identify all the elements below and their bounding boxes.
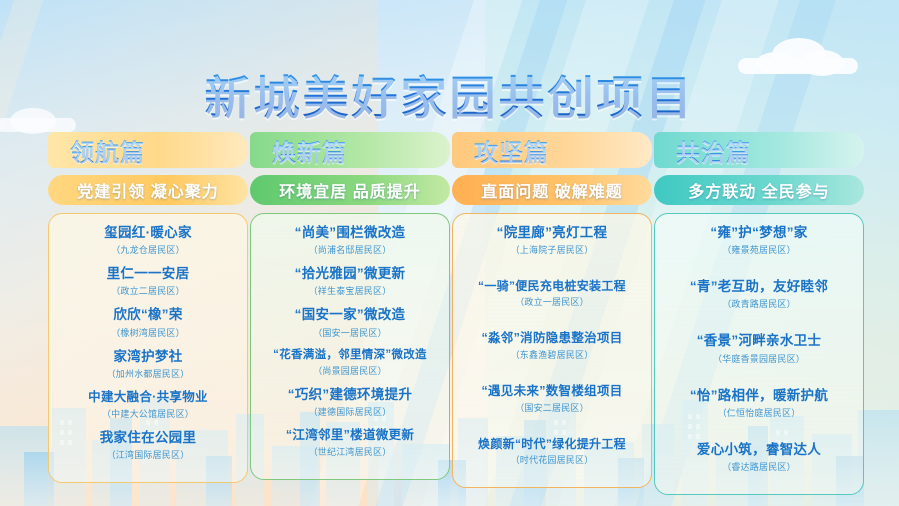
project-community: （中建大公馆居民区） (55, 407, 241, 420)
chapter-subtitle-2: 环境宜居 品质提升 (250, 175, 450, 205)
project-community: （加州水都居民区） (55, 367, 241, 380)
project-community: （上海院子居民区） (459, 243, 645, 256)
chapter-subtitle-1: 党建引领 凝心聚力 (48, 175, 248, 205)
list-item[interactable]: “拾光雅园”微更新 （祥生泰宝居民区） (257, 265, 443, 297)
project-list-3: “院里廊”亮灯工程 （上海院子居民区） “一骑”便民充电桩安装工程 （政立一居民… (452, 213, 652, 488)
list-item[interactable]: “院里廊”亮灯工程 （上海院子居民区） (459, 224, 645, 256)
project-name: “尚美”围栏微改造 (257, 224, 443, 242)
project-name: 玺园红·暖心家 (55, 224, 241, 242)
list-item[interactable]: 欣欣“橡”荣 （橡树湾居民区） (55, 306, 241, 338)
project-community: （橡树湾居民区） (55, 326, 241, 339)
list-item[interactable]: 中建大融合·共享物业 （中建大公馆居民区） (55, 389, 241, 420)
chapter-title-4: 共治篇 (676, 133, 751, 168)
list-item[interactable]: “国安一家”微改造 （国安一居民区） (257, 306, 443, 338)
list-item[interactable]: “青”老互助，友好睦邻 （政青路居民区） (661, 278, 857, 310)
project-community: （世纪江湾居民区） (257, 445, 443, 458)
page-title: 新城美好家园共创项目 (0, 62, 899, 128)
project-community: （建德国际居民区） (257, 405, 443, 418)
chapter-subtitle-3: 直面问题 破解难题 (452, 175, 652, 205)
project-community: （江湾国际居民区） (55, 448, 241, 461)
chapter-column-lingháng: 领航篇 党建引领 凝心聚力 玺园红·暖心家 （九龙仓居民区） 里仁一一安居 （政… (48, 132, 248, 483)
project-name: “青”老互助，友好睦邻 (661, 278, 857, 296)
project-name: “一骑”便民充电桩安装工程 (459, 278, 645, 294)
project-community: （尚浦名邸居民区） (257, 243, 443, 256)
project-name: “遇见未来”数智楼组项目 (459, 383, 645, 400)
project-name: “国安一家”微改造 (257, 306, 443, 324)
list-item[interactable]: 焕颜新“时代”绿化提升工程 （时代花园居民区） (459, 436, 645, 466)
list-item[interactable]: “花香满溢，邻里情深”微改造 （尚景园居民区） (257, 348, 443, 378)
list-item[interactable]: “雍”护“梦想”家 （雍景苑居民区） (661, 224, 857, 256)
project-name: “淼邻”消防隐患整治项目 (459, 330, 645, 347)
project-community: （政立一居民区） (459, 295, 645, 308)
list-item[interactable]: “江湾邻里”楼道微更新 （世纪江湾居民区） (257, 427, 443, 458)
project-community: （时代花园居民区） (459, 453, 645, 466)
project-name: “巧织”建德环境提升 (257, 386, 443, 404)
chapter-banner-1: 领航篇 (48, 132, 248, 168)
project-community: （政青路居民区） (661, 297, 857, 310)
list-item[interactable]: 家湾护梦社 （加州水都居民区） (55, 348, 241, 380)
project-name: 焕颜新“时代”绿化提升工程 (459, 436, 645, 452)
project-name: “拾光雅园”微更新 (257, 265, 443, 283)
list-item[interactable]: “遇见未来”数智楼组项目 （国安二居民区） (459, 383, 645, 414)
project-community: （东鑫渔碧居民区） (459, 348, 645, 361)
chapter-subtitle-4: 多方联动 全民参与 (654, 175, 864, 205)
project-community: （国安二居民区） (459, 401, 645, 414)
chapter-column-huanxin: 焕新篇 环境宜居 品质提升 “尚美”围栏微改造 （尚浦名邸居民区） “拾光雅园”… (250, 132, 450, 480)
project-name: “花香满溢，邻里情深”微改造 (257, 348, 443, 364)
list-item[interactable]: “一骑”便民充电桩安装工程 （政立一居民区） (459, 278, 645, 308)
list-item[interactable]: “香景”河畔亲水卫士 （华庭香景园居民区） (661, 332, 857, 364)
list-item[interactable]: “尚美”围栏微改造 （尚浦名邸居民区） (257, 224, 443, 256)
chapter-title-2: 焕新篇 (272, 133, 347, 168)
project-community: （华庭香景园居民区） (661, 352, 857, 365)
list-item[interactable]: 里仁一一安居 （政立二居民区） (55, 265, 241, 297)
project-list-1: 玺园红·暖心家 （九龙仓居民区） 里仁一一安居 （政立二居民区） 欣欣“橡”荣 … (48, 213, 248, 483)
project-name: “江湾邻里”楼道微更新 (257, 427, 443, 444)
project-name: 爱心小筑，睿智达人 (661, 441, 857, 459)
chapter-title-3: 攻坚篇 (474, 133, 549, 168)
list-item[interactable]: “淼邻”消防隐患整治项目 （东鑫渔碧居民区） (459, 330, 645, 361)
project-name: “院里廊”亮灯工程 (459, 224, 645, 242)
project-name: 家湾护梦社 (55, 348, 241, 366)
list-item[interactable]: “巧织”建德环境提升 （建德国际居民区） (257, 386, 443, 418)
project-name: 中建大融合·共享物业 (55, 389, 241, 406)
list-item[interactable]: 我家住在公园里 （江湾国际居民区） (55, 429, 241, 461)
project-name: 里仁一一安居 (55, 265, 241, 283)
project-community: （尚景园居民区） (257, 364, 443, 377)
project-community: （九龙仓居民区） (55, 243, 241, 256)
project-community: （祥生泰宝居民区） (257, 284, 443, 297)
project-list-2: “尚美”围栏微改造 （尚浦名邸居民区） “拾光雅园”微更新 （祥生泰宝居民区） … (250, 213, 450, 480)
project-list-4: “雍”护“梦想”家 （雍景苑居民区） “青”老互助，友好睦邻 （政青路居民区） … (654, 213, 864, 495)
chapter-column-gongzhi: 共治篇 多方联动 全民参与 “雍”护“梦想”家 （雍景苑居民区） “青”老互助，… (654, 132, 864, 495)
chapter-banner-4: 共治篇 (654, 132, 864, 168)
list-item[interactable]: 玺园红·暖心家 （九龙仓居民区） (55, 224, 241, 256)
project-name: “香景”河畔亲水卫士 (661, 332, 857, 350)
project-community: （国安一居民区） (257, 326, 443, 339)
project-name: “雍”护“梦想”家 (661, 224, 857, 242)
poster-root: 新城美好家园共创项目 领航篇 党建引领 凝心聚力 玺园红·暖心家 （九龙仓居民区… (0, 0, 899, 506)
project-community: （雍景苑居民区） (661, 243, 857, 256)
project-name: 我家住在公园里 (55, 429, 241, 447)
chapter-banner-3: 攻坚篇 (452, 132, 652, 168)
list-item[interactable]: 爱心小筑，睿智达人 （睿达路居民区） (661, 441, 857, 473)
chapter-columns: 领航篇 党建引领 凝心聚力 玺园红·暖心家 （九龙仓居民区） 里仁一一安居 （政… (0, 132, 899, 462)
project-community: （睿达路居民区） (661, 460, 857, 473)
list-item[interactable]: “怡”路相伴，暖新护航 （仁恒怡庭居民区） (661, 387, 857, 419)
chapter-banner-2: 焕新篇 (250, 132, 450, 168)
project-name: “怡”路相伴，暖新护航 (661, 387, 857, 405)
project-community: （仁恒怡庭居民区） (661, 406, 857, 419)
chapter-column-gongjian: 攻坚篇 直面问题 破解难题 “院里廊”亮灯工程 （上海院子居民区） “一骑”便民… (452, 132, 652, 488)
chapter-title-1: 领航篇 (70, 133, 145, 168)
project-community: （政立二居民区） (55, 284, 241, 297)
project-name: 欣欣“橡”荣 (55, 306, 241, 324)
